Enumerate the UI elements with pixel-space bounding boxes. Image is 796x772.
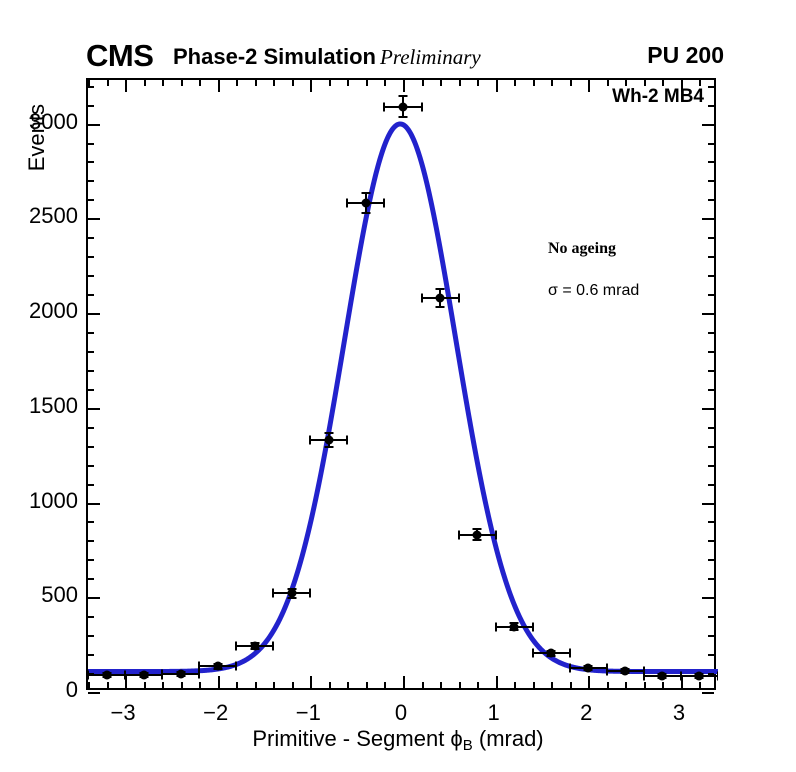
axis-tick (708, 635, 714, 637)
plot-header: CMS Phase-2 Simulation Preliminary PU 20… (0, 0, 796, 78)
axis-tick (107, 80, 109, 86)
data-point (621, 667, 630, 676)
error-bar-cap (309, 436, 311, 445)
error-bar-cap (399, 95, 408, 97)
x-axis-title: Primitive - Segment ϕB (mrad) (0, 726, 796, 754)
axis-tick (88, 237, 94, 239)
data-point (213, 662, 222, 671)
axis-tick (88, 180, 94, 182)
axis-tick (514, 682, 516, 688)
error-bar-cap (458, 293, 460, 302)
axis-tick (551, 682, 553, 688)
axis-tick (551, 80, 553, 86)
data-point (399, 102, 408, 111)
x-tick-label: 1 (488, 700, 500, 726)
axis-tick (88, 682, 90, 688)
error-bar-cap (309, 589, 311, 598)
axis-tick (107, 682, 109, 688)
axis-tick (702, 124, 714, 126)
axis-tick (88, 503, 100, 505)
axis-tick (384, 682, 386, 688)
axis-tick (181, 80, 183, 86)
axis-tick (708, 654, 714, 656)
preliminary-label: Preliminary (380, 47, 481, 68)
axis-tick (366, 80, 368, 86)
axis-tick (88, 161, 94, 163)
axis-tick (144, 682, 146, 688)
x-tick-label: 2 (580, 700, 592, 726)
axis-tick (702, 313, 714, 315)
axis-tick (533, 682, 535, 688)
axis-tick (702, 408, 714, 410)
axis-tick (384, 80, 386, 86)
axis-tick (310, 676, 312, 688)
axis-tick (88, 446, 94, 448)
axis-tick (662, 682, 664, 688)
axis-tick (644, 80, 646, 86)
y-tick-label: 0 (0, 677, 78, 703)
axis-tick (88, 673, 94, 675)
error-bar-cap (235, 662, 237, 671)
data-point (510, 622, 519, 631)
axis-tick (440, 682, 442, 688)
axis-tick (88, 597, 100, 599)
error-bar-cap (361, 192, 370, 194)
x-tick-label: 3 (673, 700, 685, 726)
y-tick-label: 1000 (0, 488, 78, 514)
axis-tick (88, 275, 94, 277)
error-bar-cap (606, 667, 608, 676)
gaussian-fit-curve (88, 80, 718, 692)
error-bar-cap (324, 446, 333, 448)
axis-tick (607, 682, 609, 688)
axis-tick (681, 676, 683, 688)
error-bar-cap (346, 199, 348, 208)
axis-tick (88, 408, 100, 410)
error-bar-cap (161, 670, 163, 679)
error-bar-cap (532, 649, 534, 658)
axis-tick (708, 578, 714, 580)
error-bar-cap (421, 293, 423, 302)
axis-tick (88, 86, 94, 88)
axis-tick (347, 682, 349, 688)
error-bar-cap (235, 641, 237, 650)
axis-tick (708, 294, 714, 296)
axis-tick (273, 80, 275, 86)
axis-tick (125, 676, 127, 688)
error-bar-cap (569, 649, 571, 658)
error-bar-cap (272, 641, 274, 650)
axis-tick (292, 80, 294, 86)
axis-tick (496, 676, 498, 688)
axis-tick (708, 332, 714, 334)
data-point (547, 649, 556, 658)
axis-tick (708, 673, 714, 675)
axis-tick (88, 465, 94, 467)
axis-tick (708, 370, 714, 372)
simulation-subtitle: Phase-2 Simulation (173, 46, 376, 68)
axis-tick (403, 676, 405, 688)
axis-tick (625, 80, 627, 86)
axis-tick (88, 484, 94, 486)
axis-tick (702, 503, 714, 505)
axis-tick (477, 80, 479, 86)
axis-tick (88, 692, 100, 694)
data-point (436, 293, 445, 302)
axis-tick (644, 682, 646, 688)
axis-tick (88, 124, 100, 126)
axis-tick (708, 559, 714, 561)
axis-tick (199, 80, 201, 86)
axis-tick (699, 80, 701, 86)
axis-tick (496, 80, 498, 92)
axis-tick (88, 578, 94, 580)
x-axis-title-subscript: B (463, 737, 473, 754)
x-tick-label: −1 (296, 700, 321, 726)
axis-tick (88, 521, 94, 523)
error-bar-cap (361, 212, 370, 214)
axis-tick (570, 80, 572, 86)
axis-tick (702, 597, 714, 599)
axis-tick (88, 616, 94, 618)
axis-tick (459, 80, 461, 86)
axis-tick (702, 692, 714, 694)
axis-tick (422, 80, 424, 86)
error-bar-cap (495, 530, 497, 539)
x-tick-label: −3 (111, 700, 136, 726)
axis-tick (218, 676, 220, 688)
x-tick-label: 0 (395, 700, 407, 726)
axis-tick (366, 682, 368, 688)
error-bar-cap (717, 671, 718, 680)
axis-tick (88, 635, 94, 637)
axis-tick (625, 682, 627, 688)
axis-tick (329, 682, 331, 688)
axis-tick (162, 682, 164, 688)
data-point (139, 670, 148, 679)
y-tick-label: 2000 (0, 298, 78, 324)
error-bar-cap (421, 102, 423, 111)
axis-tick (88, 313, 100, 315)
data-point (695, 671, 704, 680)
error-bar-cap (399, 116, 408, 118)
pileup-label: PU 200 (647, 44, 724, 67)
axis-tick (708, 484, 714, 486)
y-tick-label: 3000 (0, 109, 78, 135)
axis-tick (88, 351, 94, 353)
axis-tick (347, 80, 349, 86)
axis-tick (199, 682, 201, 688)
axis-tick (708, 427, 714, 429)
axis-tick (708, 180, 714, 182)
axis-tick (255, 80, 257, 86)
axis-tick (708, 540, 714, 542)
axis-tick (310, 80, 312, 92)
axis-tick (708, 199, 714, 201)
axis-tick (88, 389, 94, 391)
axis-tick (88, 294, 94, 296)
axis-tick (422, 682, 424, 688)
axis-tick (88, 370, 94, 372)
data-point (324, 436, 333, 445)
axis-tick (88, 559, 94, 561)
axis-tick (662, 80, 664, 86)
fit-curve-path (88, 124, 718, 672)
axis-tick (708, 86, 714, 88)
axis-tick (88, 427, 94, 429)
axis-tick (681, 80, 683, 92)
x-axis-title-units: (mrad) (473, 726, 544, 751)
y-tick-label: 1500 (0, 393, 78, 419)
data-point (584, 664, 593, 673)
axis-tick (88, 332, 94, 334)
axis-tick (459, 682, 461, 688)
axis-tick (88, 654, 94, 656)
y-tick-label: 500 (0, 582, 78, 608)
data-point (176, 670, 185, 679)
axis-tick (708, 275, 714, 277)
axis-tick (708, 616, 714, 618)
cms-logo: CMS (86, 40, 153, 71)
axis-tick (218, 80, 220, 92)
axis-tick (440, 80, 442, 86)
axis-tick (236, 80, 238, 86)
axis-tick (708, 465, 714, 467)
error-bar-cap (346, 436, 348, 445)
axis-tick (708, 351, 714, 353)
axis-tick (255, 682, 257, 688)
axis-tick (699, 682, 701, 688)
plot-area (88, 80, 718, 692)
axis-tick (702, 218, 714, 220)
axis-tick (514, 80, 516, 86)
data-point (102, 670, 111, 679)
axis-tick (144, 80, 146, 86)
axis-tick (588, 676, 590, 688)
axis-tick (708, 256, 714, 258)
plot-frame: Wh-2 MB4 No ageing σ = 0.6 mrad (86, 78, 716, 690)
axis-tick (588, 80, 590, 92)
axis-tick (708, 446, 714, 448)
axis-tick (88, 218, 100, 220)
error-bar-cap (458, 530, 460, 539)
axis-tick (403, 80, 405, 92)
axis-tick (162, 80, 164, 86)
axis-tick (708, 105, 714, 107)
axis-tick (477, 682, 479, 688)
data-point (250, 641, 259, 650)
error-bar-cap (473, 539, 482, 541)
error-bar-cap (198, 662, 200, 671)
axis-tick (708, 521, 714, 523)
axis-tick (570, 682, 572, 688)
data-point (287, 589, 296, 598)
axis-tick (292, 682, 294, 688)
error-bar-cap (436, 288, 445, 290)
error-bar-cap (383, 102, 385, 111)
axis-tick (708, 237, 714, 239)
axis-tick (607, 80, 609, 86)
axis-tick (708, 161, 714, 163)
axis-tick (88, 105, 94, 107)
error-bar-cap (383, 199, 385, 208)
x-tick-label: −2 (203, 700, 228, 726)
axis-tick (533, 80, 535, 86)
y-tick-label: 2500 (0, 203, 78, 229)
axis-tick (88, 540, 94, 542)
axis-tick (88, 143, 94, 145)
data-point (658, 671, 667, 680)
axis-tick (708, 389, 714, 391)
axis-tick (88, 199, 94, 201)
x-axis-title-text: Primitive - Segment ϕ (252, 726, 462, 751)
data-point (361, 199, 370, 208)
axis-tick (329, 80, 331, 86)
error-bar-cap (436, 306, 445, 308)
axis-tick (125, 80, 127, 92)
error-bar-cap (532, 622, 534, 631)
error-bar-cap (495, 622, 497, 631)
error-bar-cap (643, 671, 645, 680)
error-bar-cap (272, 589, 274, 598)
axis-tick (88, 256, 94, 258)
error-bar-cap (569, 664, 571, 673)
axis-tick (273, 682, 275, 688)
error-bar-cap (324, 432, 333, 434)
axis-tick (181, 682, 183, 688)
axis-tick (236, 682, 238, 688)
axis-tick (708, 143, 714, 145)
data-point (473, 530, 482, 539)
